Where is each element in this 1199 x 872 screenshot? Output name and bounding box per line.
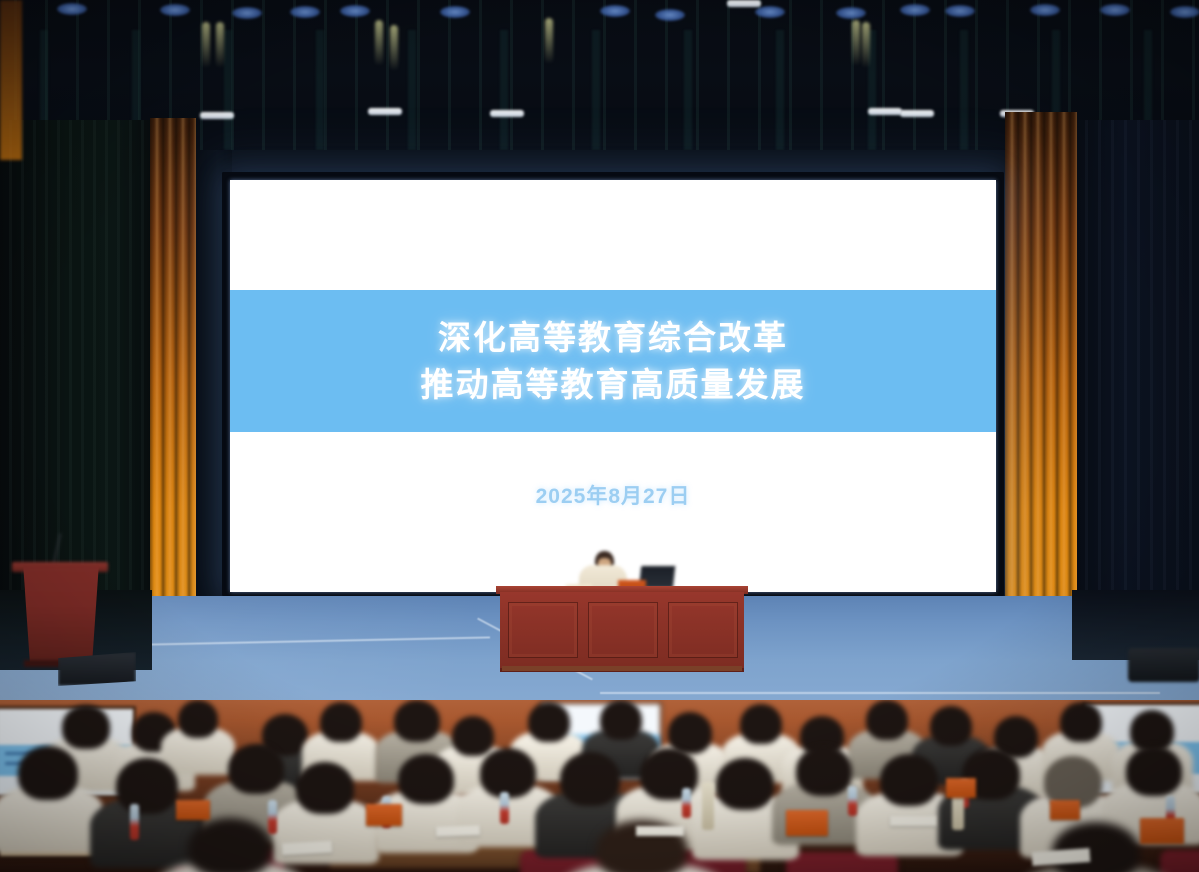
ceiling-lamp-icon-4 xyxy=(340,5,370,17)
ceiling-lamp-icon-13 xyxy=(1100,4,1130,16)
ceiling-lamp-icon-9 xyxy=(836,7,866,19)
ceiling-glow-5 xyxy=(852,20,860,66)
audience-person-head-25 xyxy=(716,758,774,810)
audience-person-head-8 xyxy=(600,700,642,740)
audience-person-head-6 xyxy=(452,716,494,756)
audience-person-head-2 xyxy=(178,700,218,738)
ceiling-spotlight-icon-3 xyxy=(200,112,234,119)
ceiling-spotlight-icon-2 xyxy=(900,110,934,117)
podium xyxy=(18,565,104,665)
ceiling-lamp-icon-0 xyxy=(57,3,87,15)
chair-5 xyxy=(1160,850,1199,872)
water-bottle-5 xyxy=(682,788,691,818)
orange-curtain-right xyxy=(1005,112,1077,624)
nameplate-3 xyxy=(786,810,828,836)
audience-area xyxy=(0,700,1199,872)
side-curtain-dark-right xyxy=(1075,120,1199,640)
nameplate-6 xyxy=(1140,818,1184,844)
slide-date: 2025年8月27日 xyxy=(230,480,996,510)
table-panel-1 xyxy=(508,602,578,658)
audience-person-head-18 xyxy=(116,758,178,814)
audience-person-head-31 xyxy=(188,818,272,872)
ceiling-lamp-icon-2 xyxy=(232,7,262,19)
paper-2 xyxy=(436,825,480,837)
stage-monitor-right xyxy=(1128,648,1199,682)
ceiling-glow-0 xyxy=(202,22,210,68)
ceiling-lamp-icon-8 xyxy=(755,6,785,18)
water-bottle-1 xyxy=(130,804,139,840)
audience-person-head-27 xyxy=(880,754,938,806)
ceiling-glow-4 xyxy=(545,18,553,64)
orange-curtain-left xyxy=(150,118,196,618)
side-curtain-dark-left xyxy=(0,120,152,620)
orange-curtain-right-edge xyxy=(0,0,22,160)
slide-title-line-1: 深化高等教育综合改革 xyxy=(438,317,788,358)
audience-person-head-7 xyxy=(528,702,570,742)
ceiling-glow-2 xyxy=(375,20,383,66)
nameplate-4 xyxy=(946,778,976,798)
audience-person-head-21 xyxy=(398,754,454,804)
water-bottle-6 xyxy=(848,786,857,816)
audience-person-head-0 xyxy=(62,705,110,749)
ceiling-glow-1 xyxy=(216,22,224,68)
audience-person-head-15 xyxy=(1060,702,1102,742)
ceiling-spotlight-icon-6 xyxy=(727,0,761,7)
audience-person-head-12 xyxy=(866,700,908,740)
slide-title-block: 深化高等教育综合改革 推动高等教育高质量发展 xyxy=(230,290,996,432)
ceiling-glow-3 xyxy=(390,25,398,71)
table-panel-2 xyxy=(588,602,658,658)
nameplate-1 xyxy=(176,800,210,820)
audience-person-head-26 xyxy=(796,746,852,796)
nameplate-2 xyxy=(366,804,402,826)
ceiling-lamp-icon-5 xyxy=(440,6,470,18)
audience-person-head-5 xyxy=(394,700,440,742)
ceiling-lamp-icon-11 xyxy=(945,5,975,17)
ceiling-lamp-icon-7 xyxy=(655,9,685,21)
audience-person-head-13 xyxy=(930,706,972,746)
audience-person-head-20 xyxy=(296,762,354,814)
audience-person-head-4 xyxy=(320,702,362,742)
ceiling-glow-6 xyxy=(862,22,870,68)
ceiling-spotlight-icon-0 xyxy=(368,108,402,115)
water-bottle-2 xyxy=(268,800,277,834)
presentation-screen: 深化高等教育综合改革 推动高等教育高质量发展 2025年8月27日 xyxy=(230,180,996,592)
paper-5 xyxy=(636,826,684,836)
thermos-1 xyxy=(702,782,714,830)
speaker-table xyxy=(500,592,744,672)
ceiling-lamp-icon-3 xyxy=(290,6,320,18)
ceiling-spotlight-icon-4 xyxy=(490,110,524,117)
audience-person-head-10 xyxy=(740,704,782,744)
speaker-table-foot xyxy=(502,666,742,671)
audience-person-head-22 xyxy=(480,748,536,798)
audience-person-head-23 xyxy=(560,752,620,806)
water-bottle-4 xyxy=(500,792,509,824)
ceiling-lamp-icon-10 xyxy=(900,4,930,16)
audience-person-head-19 xyxy=(228,744,284,794)
table-panel-3 xyxy=(668,602,738,658)
stage-floor-line-front xyxy=(600,692,1160,694)
ceiling-spotlight-icon-1 xyxy=(868,108,902,115)
paper-3 xyxy=(890,816,936,826)
audience-person-head-17 xyxy=(18,746,78,800)
audience-person-head-30 xyxy=(1126,746,1182,796)
slide-title-line-2: 推动高等教育高质量发展 xyxy=(421,364,806,405)
ceiling-lamp-icon-12 xyxy=(1030,4,1060,16)
ceiling-lamp-icon-14 xyxy=(1170,6,1199,18)
auditorium-photo: 深化高等教育综合改革 推动高等教育高质量发展 2025年8月27日 xyxy=(0,0,1199,872)
ceiling-lamp-icon-1 xyxy=(160,4,190,16)
ceiling-lamp-icon-6 xyxy=(600,5,630,17)
nameplate-5 xyxy=(1050,800,1080,820)
